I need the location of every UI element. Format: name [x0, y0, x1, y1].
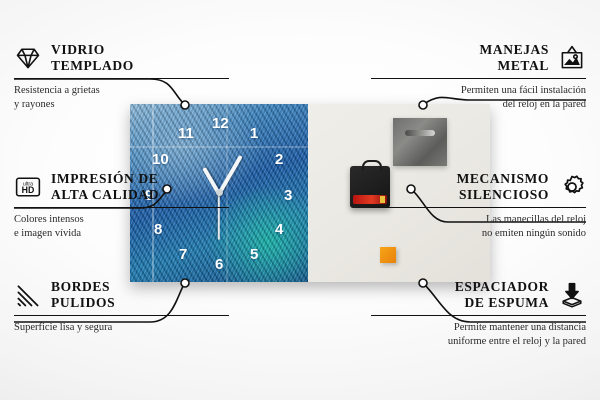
- divider: [14, 78, 229, 80]
- feature-header: ESPACIADOR DE ESPUMA: [371, 279, 586, 311]
- divider: [14, 207, 229, 209]
- feature-header: MECANISMO SILENCIOSO: [371, 171, 586, 203]
- feature-header: MANEJAS METAL: [371, 42, 586, 74]
- clock-number-1: 1: [250, 126, 258, 141]
- subtitle-line-2: del reloj en la pared: [503, 99, 586, 110]
- diagonal-lines-icon: [14, 281, 42, 309]
- metal-hanger-plate: [393, 118, 447, 166]
- subtitle-line-2: no emiten ningún sonido: [482, 228, 586, 239]
- subtitle-line-1: Superficie lisa y segura: [14, 322, 112, 333]
- title-line-1: ESPACIADOR: [455, 279, 549, 294]
- gear-icon: [558, 173, 586, 201]
- title-line-1: MECANISMO: [457, 171, 549, 186]
- feature-header: BORDES PULIDOS: [14, 279, 229, 311]
- subtitle-line-2: y rayones: [14, 99, 55, 110]
- divider: [371, 78, 586, 80]
- clock-number-4: 4: [275, 222, 283, 237]
- svg-text:HD: HD: [22, 185, 35, 195]
- hanger-slot: [405, 130, 435, 136]
- clock-number-2: 2: [275, 152, 283, 167]
- feature-bordes-pulidos: BORDES PULIDOS Superficie lisa y segura: [14, 279, 229, 335]
- title-line-1: IMPRESIÓN DE: [51, 171, 158, 186]
- subtitle-line-1: Colores intensos: [14, 214, 84, 225]
- subtitle-line-1: Permiten una fácil instalación: [461, 85, 586, 96]
- feature-subtitle: Permiten una fácil instalación del reloj…: [371, 84, 586, 112]
- clock-number-6: 6: [215, 257, 223, 272]
- infographic-canvas: 12 1 2 3 4 5 6 7 8 9 10 11: [0, 0, 600, 400]
- feature-title: ESPACIADOR DE ESPUMA: [455, 279, 549, 311]
- diamond-icon: [14, 44, 42, 72]
- subtitle-line-1: Resistencia a grietas: [14, 85, 100, 96]
- clock-number-7: 7: [179, 247, 187, 262]
- feature-subtitle: Permite mantener una distancia uniforme …: [371, 321, 586, 349]
- subtitle-line-2: e imagen vívida: [14, 228, 81, 239]
- ultra-hd-badge-icon: ultra HD: [14, 173, 42, 201]
- clock-number-11: 11: [178, 126, 194, 141]
- feature-vidrio-templado: VIDRIO TEMPLADO Resistencia a grietas y …: [14, 42, 229, 112]
- subtitle-line-1: Permite mantener una distancia: [454, 322, 586, 333]
- divider: [371, 207, 586, 209]
- feature-subtitle: Las manecillas del reloj no emiten ningú…: [371, 213, 586, 241]
- title-line-1: BORDES: [51, 279, 110, 294]
- down-arrow-foam-pad-icon: [558, 281, 586, 309]
- feature-espaciador-espuma: ESPACIADOR DE ESPUMA Permite mantener un…: [371, 279, 586, 349]
- title-line-1: MANEJAS: [480, 42, 549, 57]
- feature-title: MECANISMO SILENCIOSO: [457, 171, 549, 203]
- clock-number-10: 10: [152, 152, 169, 167]
- clock-number-5: 5: [250, 247, 258, 262]
- subtitle-line-1: Las manecillas del reloj: [486, 214, 586, 225]
- divider: [371, 315, 586, 317]
- divider: [14, 315, 229, 317]
- framed-picture-hanging-icon: [558, 44, 586, 72]
- title-line-2: TEMPLADO: [51, 58, 134, 73]
- feature-header: VIDRIO TEMPLADO: [14, 42, 229, 74]
- feature-subtitle: Resistencia a grietas y rayones: [14, 84, 229, 112]
- clock-number-12: 12: [212, 116, 229, 131]
- feature-title: MANEJAS METAL: [480, 42, 549, 74]
- feature-title: VIDRIO TEMPLADO: [51, 42, 134, 74]
- feature-title: IMPRESIÓN DE ALTA CALIDAD: [51, 171, 159, 203]
- feature-subtitle: Colores intensos e imagen vívida: [14, 213, 229, 241]
- orange-foam-spacer: [380, 247, 396, 263]
- title-line-2: ALTA CALIDAD: [51, 187, 159, 202]
- title-line-2: DE ESPUMA: [464, 295, 549, 310]
- feature-manejas-metal: MANEJAS METAL Permiten una fácil instala…: [371, 42, 586, 112]
- feature-mecanismo-silencioso: MECANISMO SILENCIOSO Las manecillas del …: [371, 171, 586, 241]
- feature-title: BORDES PULIDOS: [51, 279, 115, 311]
- title-line-2: METAL: [497, 58, 549, 73]
- movement-hook: [362, 160, 382, 171]
- title-line-2: PULIDOS: [51, 295, 115, 310]
- feature-impresion-alta-calidad: ultra HD IMPRESIÓN DE ALTA CALIDAD Color…: [14, 171, 229, 241]
- subtitle-line-2: uniforme entre el reloj y la pared: [448, 336, 586, 347]
- clock-number-3: 3: [284, 188, 292, 203]
- feature-header: ultra HD IMPRESIÓN DE ALTA CALIDAD: [14, 171, 229, 203]
- title-line-2: SILENCIOSO: [459, 187, 549, 202]
- title-line-1: VIDRIO: [51, 42, 105, 57]
- feature-subtitle: Superficie lisa y segura: [14, 321, 229, 335]
